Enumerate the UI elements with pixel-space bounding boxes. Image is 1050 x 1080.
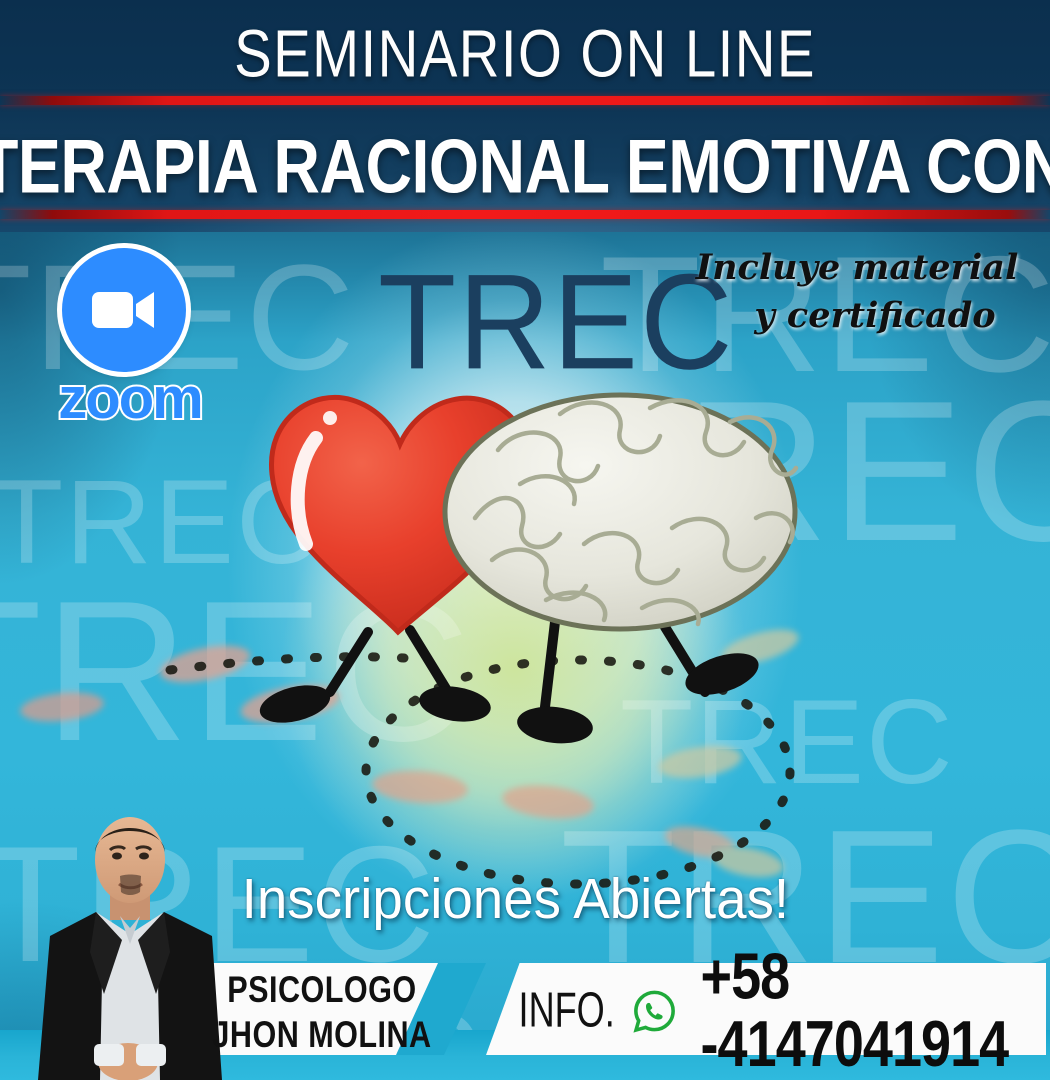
seminar-kicker: SEMINARIO ON LINE: [32, 14, 1019, 95]
info-label: INFO.: [519, 985, 615, 1037]
poster-header: SEMINARIO ON LINE TERAPIA RACIONAL EMOTI…: [0, 0, 1050, 232]
heart-foot-right: [417, 682, 493, 726]
red-divider-top: [0, 96, 1050, 105]
brain-foot-left: [515, 703, 594, 747]
phone-number[interactable]: +58 -4147041914: [701, 944, 1034, 1078]
trec-acronym: TREC: [378, 255, 734, 391]
brain-character: [445, 395, 796, 629]
brain-legs: [545, 622, 705, 707]
poster-title: TERAPIA RACIONAL EMOTIVA CONDUCTUAL: [0, 112, 1050, 224]
zoom-badge[interactable]: zoom: [40, 248, 220, 413]
video-camera-icon: [92, 288, 156, 332]
zoom-wordmark: zoom: [40, 370, 220, 428]
heart-legs: [330, 630, 448, 692]
includes-note-line2: y certificado: [682, 292, 1032, 340]
includes-note-line1: Incluye material: [696, 247, 1019, 288]
psychologist-credentials: PSICOLOGO JHON MOLINA: [200, 968, 445, 1058]
whatsapp-icon[interactable]: [631, 982, 678, 1040]
psychologist-role: PSICOLOGO: [200, 968, 445, 1013]
red-divider-bottom: [0, 210, 1050, 219]
psychologist-name: JHON MOLINA: [200, 1013, 445, 1058]
contact-row[interactable]: INFO. +58 -4147041914: [500, 978, 1046, 1044]
includes-note: Incluye material y certificado: [682, 244, 1032, 340]
poster-canvas: TRECTRECTRECTRECTRECTRECTRECTRECTREC: [0, 0, 1050, 1080]
